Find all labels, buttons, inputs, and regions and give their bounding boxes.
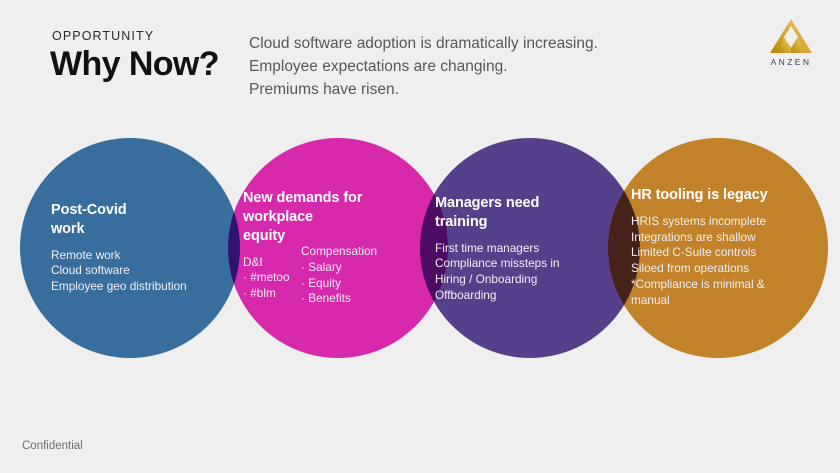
list-item: Limited C-Suite controls — [631, 245, 801, 261]
venn-body-post-covid-work: Remote work Cloud software Employee geo … — [51, 248, 231, 295]
venn-body-workplace-equity-secondary: Compensation · Salary · Equity · Benefit… — [301, 244, 411, 307]
heading-line: HR tooling is legacy — [631, 186, 801, 205]
list-item: · Benefits — [301, 291, 411, 307]
venn-heading-managers-need-training: Managers need training — [435, 194, 585, 232]
heading-line: work — [51, 220, 231, 239]
list-item: Cloud software — [51, 263, 231, 279]
confidential-footer: Confidential — [22, 440, 83, 452]
venn-heading-workplace-equity: New demands for workplace equity — [243, 189, 408, 246]
list-item: First time managers — [435, 241, 585, 257]
list-item: HRIS systems incomplete — [631, 214, 801, 230]
venn-text-post-covid-work: Post-Covid work Remote work Cloud softwa… — [51, 201, 231, 295]
list-item: manual — [631, 293, 801, 309]
list-item: Employee geo distribution — [51, 279, 231, 295]
heading-line: Post-Covid — [51, 201, 231, 220]
slide-canvas: OPPORTUNITY Why Now? Cloud software adop… — [0, 0, 840, 473]
list-item: Hiring / Onboarding — [435, 272, 585, 288]
list-item: Siloed from operations — [631, 261, 801, 277]
heading-line: workplace — [243, 208, 408, 227]
list-item: · Equity — [301, 276, 411, 292]
list-item: · Salary — [301, 260, 411, 276]
venn-text-hr-tooling-legacy: HR tooling is legacy HRIS systems incomp… — [631, 186, 801, 309]
venn-text-managers-need-training: Managers need training First time manage… — [435, 194, 585, 304]
list-item: *Compliance is minimal & — [631, 277, 801, 293]
list-item: Offboarding — [435, 288, 585, 304]
heading-line: New demands for — [243, 189, 408, 208]
venn-heading-hr-tooling-legacy: HR tooling is legacy — [631, 186, 801, 205]
heading-line: equity — [243, 227, 408, 246]
list-item: Compensation — [301, 244, 411, 260]
list-item: Remote work — [51, 248, 231, 264]
venn-heading-post-covid-work: Post-Covid work — [51, 201, 231, 239]
venn-body-hr-tooling-legacy: HRIS systems incomplete Integrations are… — [631, 214, 801, 309]
list-item: Integrations are shallow — [631, 230, 801, 246]
venn-body-managers-need-training: First time managers Compliance missteps … — [435, 241, 585, 304]
heading-line: training — [435, 213, 585, 232]
heading-line: Managers need — [435, 194, 585, 213]
list-item: Compliance missteps in — [435, 256, 585, 272]
